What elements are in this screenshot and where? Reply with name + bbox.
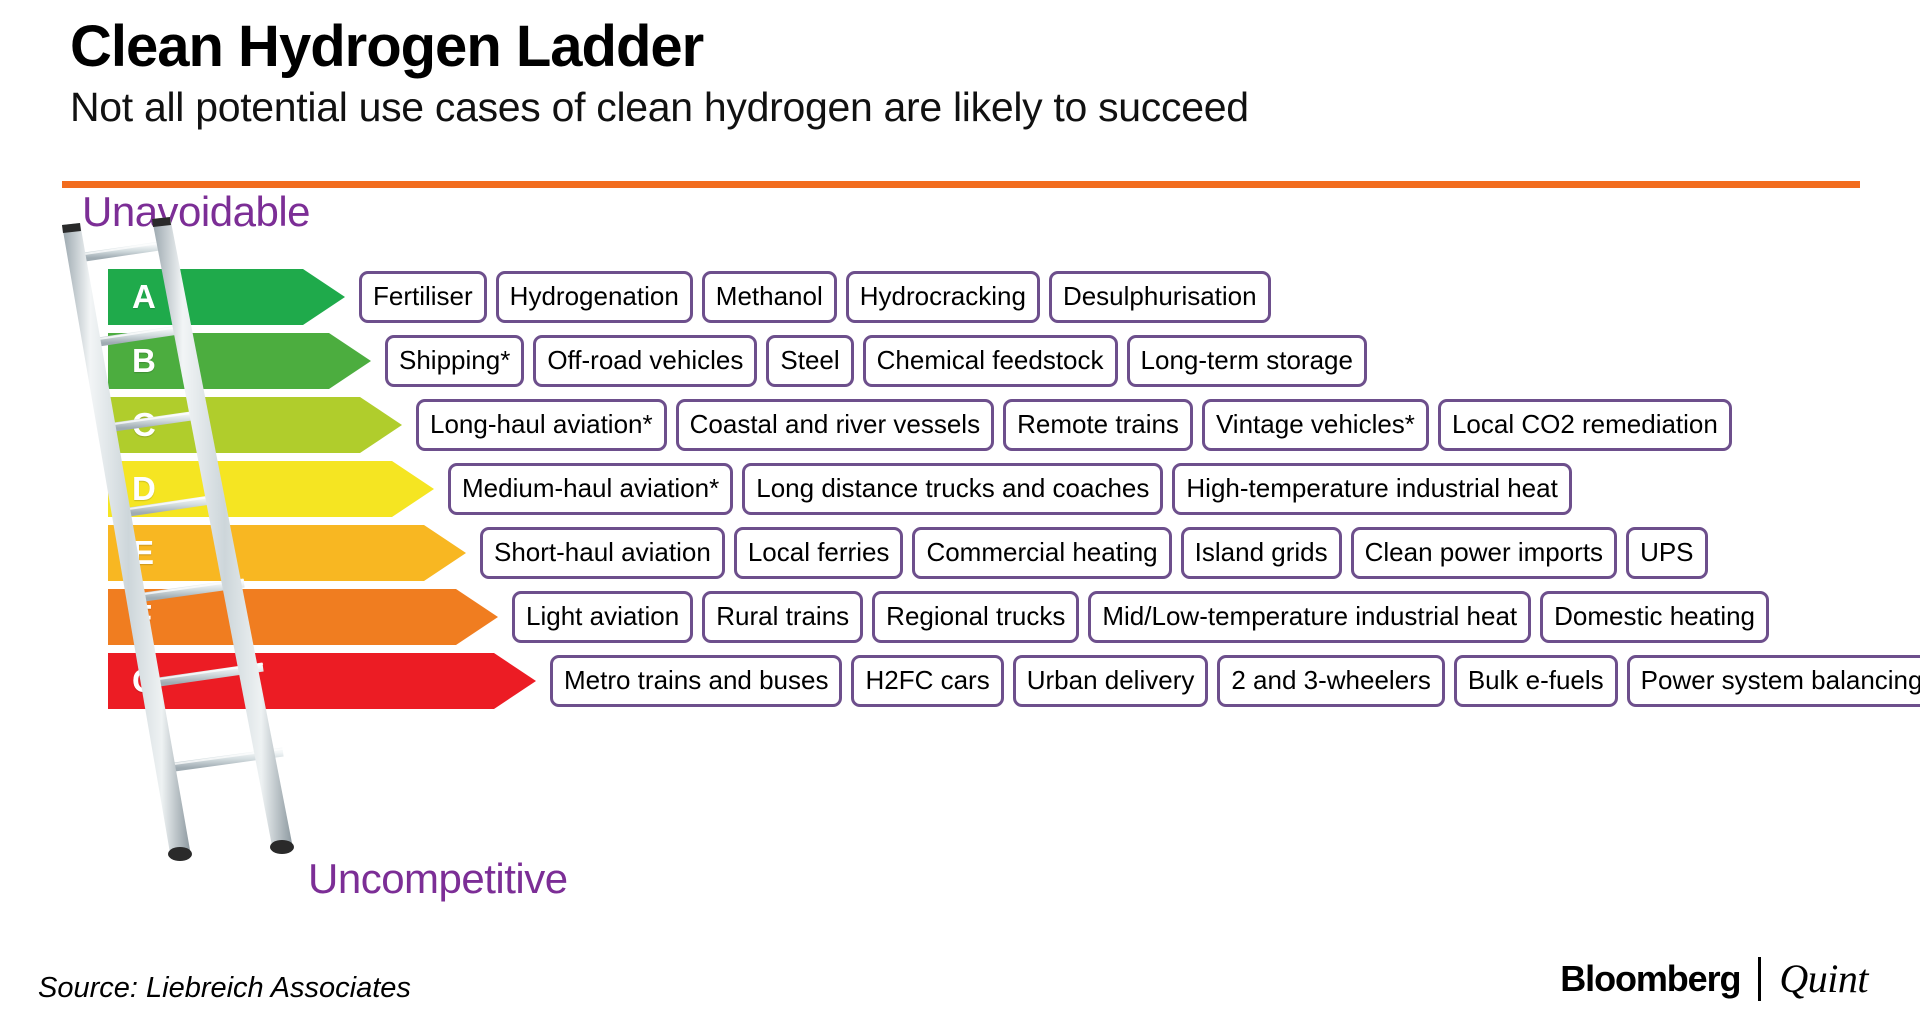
- ladder-row: FLight aviationRural trainsRegional truc…: [108, 589, 1769, 645]
- use-case-tag[interactable]: Short-haul aviation: [480, 527, 725, 579]
- ladder-row: EShort-haul aviationLocal ferriesCommerc…: [108, 525, 1708, 581]
- source-note: Source: Liebreich Associates: [38, 972, 411, 1005]
- use-case-tag[interactable]: Domestic heating: [1540, 591, 1769, 643]
- header: Clean Hydrogen Ladder Not all potential …: [70, 18, 1860, 129]
- grade-arrow-a: A: [108, 269, 345, 325]
- use-case-tag[interactable]: Steel: [766, 335, 853, 387]
- use-case-tag[interactable]: Island grids: [1181, 527, 1342, 579]
- use-case-tag[interactable]: Long-haul aviation*: [416, 399, 667, 451]
- use-case-tag[interactable]: Desulphurisation: [1049, 271, 1271, 323]
- grade-arrow-g: G: [108, 653, 536, 709]
- use-case-tag[interactable]: Clean power imports: [1351, 527, 1617, 579]
- grade-arrow-c: C: [108, 397, 402, 453]
- use-case-tag[interactable]: Off-road vehicles: [533, 335, 757, 387]
- use-case-tag[interactable]: 2 and 3-wheelers: [1217, 655, 1444, 707]
- use-case-tag[interactable]: Urban delivery: [1013, 655, 1209, 707]
- use-case-list: Short-haul aviationLocal ferriesCommerci…: [480, 527, 1708, 579]
- use-case-tag[interactable]: Hydrogenation: [496, 271, 693, 323]
- grade-arrow-e: E: [108, 525, 466, 581]
- use-case-tag[interactable]: Bulk e-fuels: [1454, 655, 1618, 707]
- use-case-list: Shipping*Off-road vehiclesSteelChemical …: [385, 335, 1367, 387]
- use-case-tag[interactable]: H2FC cars: [851, 655, 1003, 707]
- use-case-tag[interactable]: Long distance trucks and coaches: [742, 463, 1163, 515]
- ladder-row: CLong-haul aviation*Coastal and river ve…: [108, 397, 1732, 453]
- use-case-tag[interactable]: Rural trains: [702, 591, 863, 643]
- ladder-row: BShipping*Off-road vehiclesSteelChemical…: [108, 333, 1367, 389]
- grade-letter: D: [132, 470, 156, 508]
- use-case-tag[interactable]: Metro trains and buses: [550, 655, 842, 707]
- grade-letter: B: [132, 342, 156, 380]
- use-case-list: Light aviationRural trainsRegional truck…: [512, 591, 1769, 643]
- use-case-tag[interactable]: Remote trains: [1003, 399, 1193, 451]
- use-case-tag[interactable]: Light aviation: [512, 591, 693, 643]
- brand-quint: Quint: [1779, 955, 1868, 1002]
- use-case-tag[interactable]: Long-term storage: [1127, 335, 1367, 387]
- caption-uncompetitive: Uncompetitive: [308, 855, 568, 903]
- grade-letter: A: [132, 278, 156, 316]
- use-case-list: Long-haul aviation*Coastal and river ves…: [416, 399, 1732, 451]
- use-case-tag[interactable]: Fertiliser: [359, 271, 487, 323]
- use-case-tag[interactable]: High-temperature industrial heat: [1172, 463, 1571, 515]
- use-case-tag[interactable]: Hydrocracking: [846, 271, 1040, 323]
- chart-area: Unavoidable Uncompetitive AFertiliserHyd…: [0, 195, 1920, 915]
- caption-unavoidable: Unavoidable: [82, 188, 310, 236]
- grade-letter: E: [132, 534, 154, 572]
- use-case-tag[interactable]: Methanol: [702, 271, 837, 323]
- grade-arrow-f: F: [108, 589, 498, 645]
- use-case-tag[interactable]: Shipping*: [385, 335, 524, 387]
- use-case-tag[interactable]: Medium-haul aviation*: [448, 463, 733, 515]
- grade-letter: F: [132, 598, 152, 636]
- ladder-row: AFertiliserHydrogenationMethanolHydrocra…: [108, 269, 1271, 325]
- page-title: Clean Hydrogen Ladder: [70, 18, 1860, 76]
- grade-arrow-b: B: [108, 333, 371, 389]
- brand-bloomberg: Bloomberg: [1560, 958, 1740, 1000]
- use-case-list: FertiliserHydrogenationMethanolHydrocrac…: [359, 271, 1271, 323]
- use-case-tag[interactable]: Power system balancing: [1627, 655, 1920, 707]
- use-case-list: Medium-haul aviation*Long distance truck…: [448, 463, 1572, 515]
- ladder-row: GMetro trains and busesH2FC carsUrban de…: [108, 653, 1920, 709]
- grade-letter: C: [132, 406, 156, 444]
- use-case-tag[interactable]: Coastal and river vessels: [676, 399, 994, 451]
- page-subtitle: Not all potential use cases of clean hyd…: [70, 86, 1860, 129]
- brand-logo: Bloomberg Quint: [1560, 955, 1868, 1002]
- brand-separator: [1758, 957, 1761, 1001]
- use-case-tag[interactable]: Chemical feedstock: [863, 335, 1118, 387]
- ladder-row: DMedium-haul aviation*Long distance truc…: [108, 461, 1572, 517]
- use-case-tag[interactable]: Local ferries: [734, 527, 904, 579]
- use-case-list: Metro trains and busesH2FC carsUrban del…: [550, 655, 1920, 707]
- use-case-tag[interactable]: UPS: [1626, 527, 1707, 579]
- grade-letter: G: [132, 662, 158, 700]
- use-case-tag[interactable]: Mid/Low-temperature industrial heat: [1088, 591, 1531, 643]
- use-case-tag[interactable]: Regional trucks: [872, 591, 1079, 643]
- use-case-tag[interactable]: Local CO2 remediation: [1438, 399, 1732, 451]
- header-divider: [62, 181, 1860, 188]
- use-case-tag[interactable]: Vintage vehicles*: [1202, 399, 1429, 451]
- use-case-tag[interactable]: Commercial heating: [912, 527, 1171, 579]
- grade-arrow-d: D: [108, 461, 434, 517]
